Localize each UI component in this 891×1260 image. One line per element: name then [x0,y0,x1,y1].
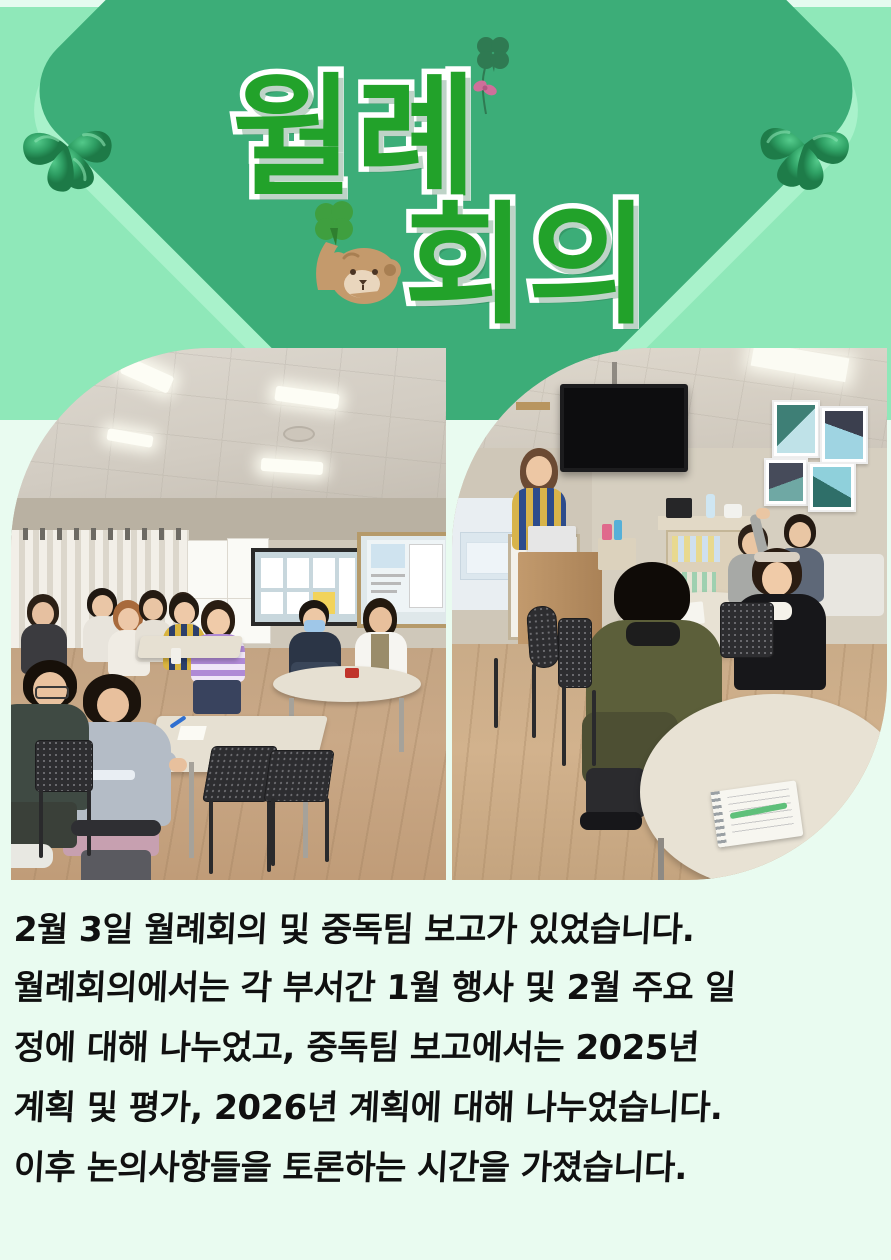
caption-line: 2월 3일 월례회의 및 중독팀 보고가 있었습니다. [13,902,882,951]
photo-presentation [452,348,887,880]
chair-leg [325,798,329,862]
side-table [598,538,636,570]
pen-holder [614,520,622,540]
wall-tv [560,384,688,472]
water-bottle [706,494,715,518]
table-leg [658,838,664,880]
counter-top [658,516,754,530]
back-table [137,636,243,658]
wall-art-frame [808,462,856,512]
wall-art-frame [764,458,808,506]
photo-meeting-room-group [11,348,446,880]
spiral-notebook [711,780,804,847]
title-line-2: 회의 [404,200,651,332]
ceiling [11,348,446,500]
wall-paper-sheet [187,540,229,604]
caption-line: 월례회의에서는 각 부서간 1월 행사 및 2월 주요 일 [13,960,882,1009]
wall-art-frame [772,400,820,458]
small-printer [666,498,692,518]
chair-leg [562,686,566,766]
pen-holder [602,524,612,540]
hair-band [754,552,800,562]
chair-leg [271,798,275,866]
chair-seat [71,820,161,836]
ceiling-speaker [283,426,315,442]
photo-row [0,348,891,882]
curtain-rings [11,528,189,540]
poster-root: 월례 회의 [0,0,891,1260]
white-box [724,504,742,518]
wall-shelf-strip [516,402,550,410]
chair [526,605,560,669]
chair [558,618,592,688]
paper-cup [171,648,181,664]
chair [720,602,774,658]
caption-block: 2월 3일 월례회의 및 중독팀 보고가 있었습니다. 월례회의에서는 각 부서… [0,888,891,1260]
caption-line: 이후 논의사항들을 토론하는 시간을 가졌습니다. [13,1140,882,1189]
chair-leg [39,790,43,858]
title-line-1: 월례 [232,72,479,204]
wall-art-frame [820,406,868,464]
chair [35,740,93,792]
caption-line: 정에 대해 나누었고, 중독팀 보고에서는 2025년 [13,1020,882,1069]
notepad [177,726,206,740]
caption-line: 계획 및 평가, 2026년 계획에 대해 나누었습니다. [13,1080,882,1129]
chair-leg [532,664,536,738]
chair-leg [494,658,498,728]
chair-leg [592,690,596,766]
red-item-on-table [345,668,359,678]
eyeglasses [35,686,69,699]
chair-leg [209,800,213,874]
chair [263,750,334,802]
